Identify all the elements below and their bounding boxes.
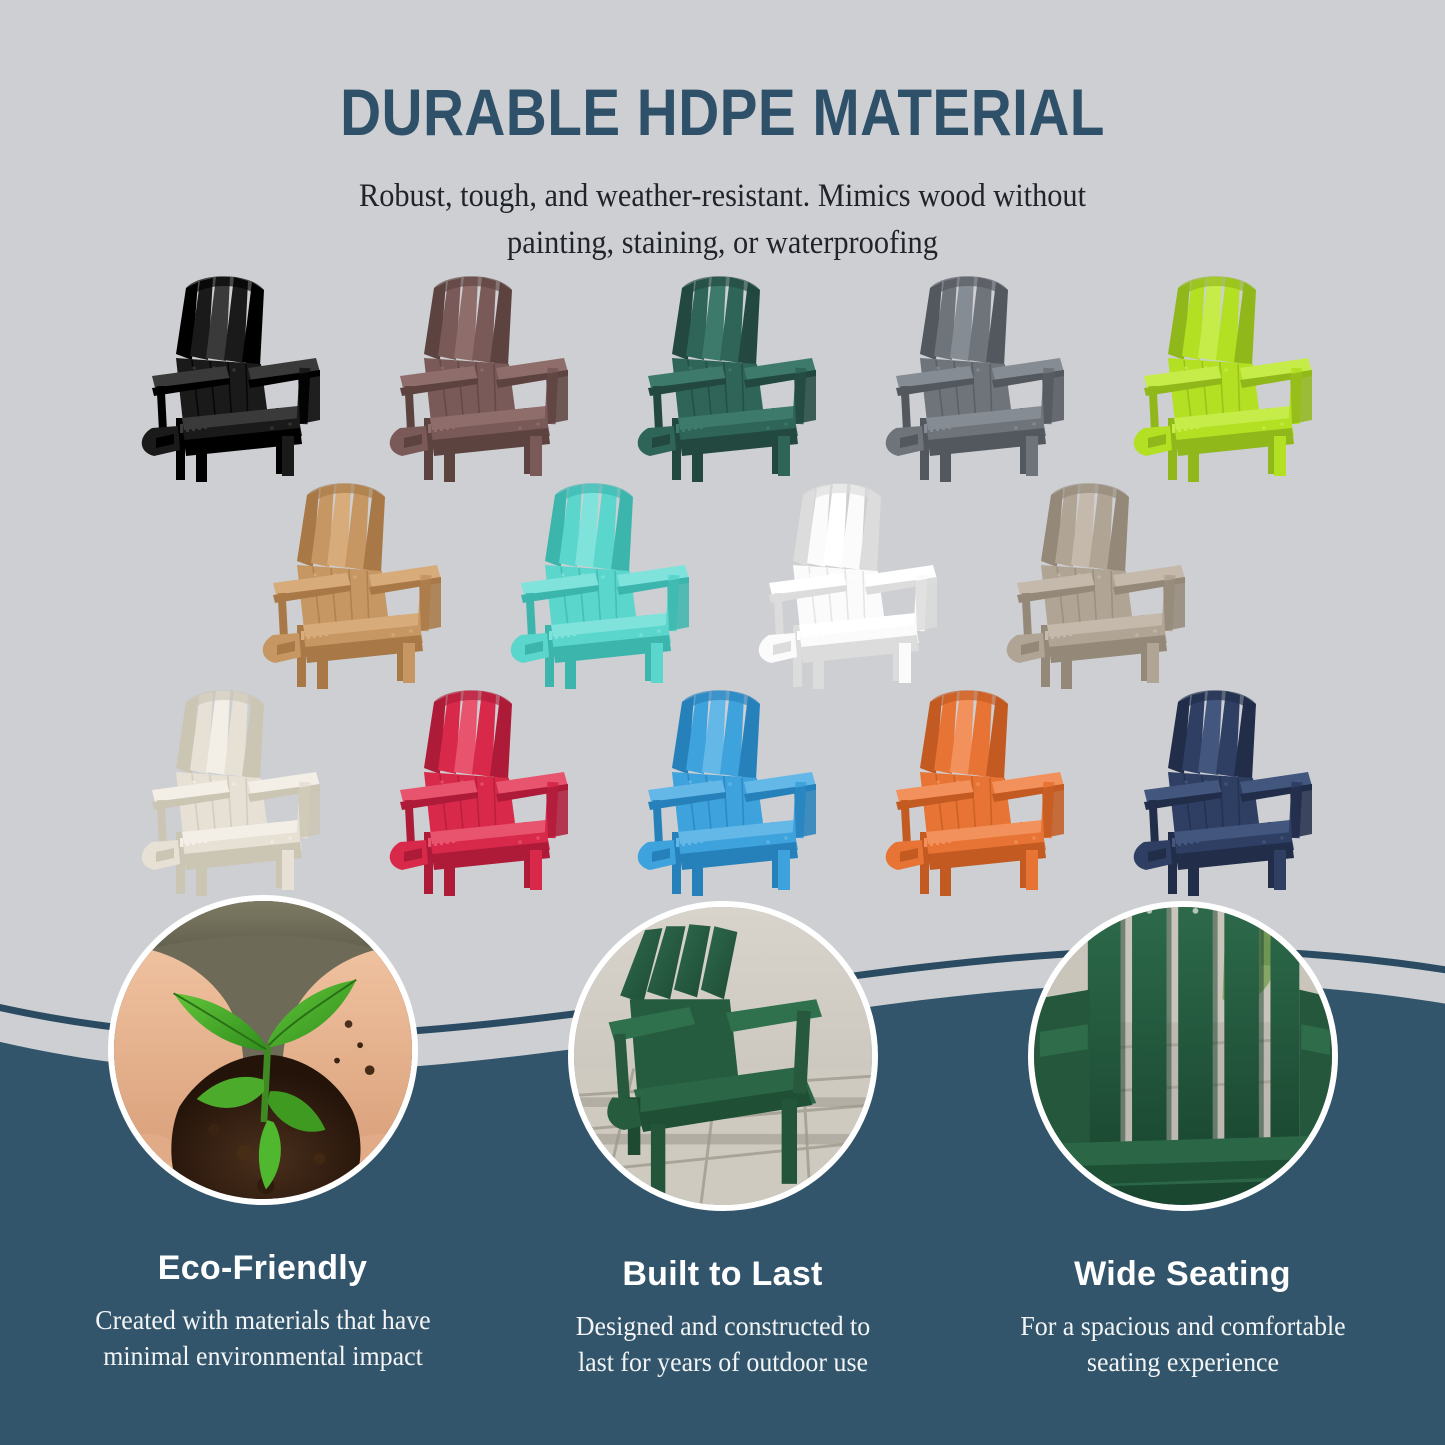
feature-desc-line-2: last for years of outdoor use	[531, 1344, 915, 1380]
feature-desc-line-1: Created with materials that have	[71, 1302, 455, 1338]
page-title: DURABLE HDPE MATERIAL	[101, 78, 1344, 147]
infographic-page: DURABLE HDPE MATERIAL Robust, tough, and…	[0, 0, 1445, 1445]
feature-desc-eco-friendly: Created with materials that have minimal…	[71, 1302, 455, 1375]
chair-row-2	[0, 475, 1445, 690]
header: DURABLE HDPE MATERIAL Robust, tough, and…	[0, 0, 1445, 267]
chair-swatch-black[interactable]	[130, 268, 330, 483]
chair-image	[378, 268, 578, 483]
page-subtitle: Robust, tough, and weather-resistant. Mi…	[58, 173, 1387, 267]
chair-swatch-weathered-wood[interactable]	[995, 475, 1195, 690]
chair-swatch-turquoise[interactable]	[499, 475, 699, 690]
features-section: Eco-Friendly Created with materials that…	[0, 895, 1445, 1381]
feature-wide-seating: Wide Seating For a spacious and comforta…	[983, 895, 1383, 1381]
feature-desc-line-1: For a spacious and comfortable	[991, 1308, 1375, 1344]
chair-swatch-dark-green[interactable]	[626, 268, 826, 483]
chair-image	[874, 682, 1074, 897]
feature-desc-line-2: minimal environmental impact	[71, 1338, 455, 1374]
feature-image-wide-seating	[1028, 901, 1338, 1211]
feature-title-eco-friendly: Eco-Friendly	[63, 1249, 463, 1288]
chair-swatch-gray[interactable]	[874, 268, 1074, 483]
chair-swatch-ivory[interactable]	[130, 682, 330, 897]
chair-image	[626, 268, 826, 483]
chair-swatch-navy-blue[interactable]	[1122, 682, 1322, 897]
chair-row-1	[6, 268, 1445, 483]
chair-row-3	[6, 682, 1445, 897]
feature-image-eco-friendly	[108, 895, 418, 1205]
chair-image	[378, 682, 578, 897]
chair-image	[874, 268, 1074, 483]
feature-title-built-to-last: Built to Last	[523, 1255, 923, 1294]
chair-image	[130, 268, 330, 483]
feature-image-built-to-last	[568, 901, 878, 1211]
chair-image	[499, 475, 699, 690]
chair-image	[626, 682, 826, 897]
chair-swatch-lime-green[interactable]	[1122, 268, 1322, 483]
chair-image	[995, 475, 1195, 690]
chair-image	[747, 475, 947, 690]
chair-image	[1122, 682, 1322, 897]
feature-desc-line-1: Designed and constructed to	[531, 1308, 915, 1344]
chair-swatch-blue[interactable]	[626, 682, 826, 897]
chair-swatch-teak[interactable]	[251, 475, 451, 690]
chair-swatch-brown[interactable]	[378, 268, 578, 483]
subtitle-line-2: painting, staining, or waterproofing	[58, 220, 1387, 267]
feature-desc-line-2: seating experience	[991, 1344, 1375, 1380]
chair-color-grid	[0, 268, 1445, 897]
chair-image	[1122, 268, 1322, 483]
chair-swatch-white[interactable]	[747, 475, 947, 690]
chair-swatch-red[interactable]	[378, 682, 578, 897]
chair-swatch-orange[interactable]	[874, 682, 1074, 897]
subtitle-line-1: Robust, tough, and weather-resistant. Mi…	[58, 173, 1387, 220]
feature-eco-friendly: Eco-Friendly Created with materials that…	[63, 895, 463, 1381]
feature-desc-wide-seating: For a spacious and comfortable seating e…	[991, 1308, 1375, 1381]
chair-image	[130, 682, 330, 897]
feature-desc-built-to-last: Designed and constructed to last for yea…	[531, 1308, 915, 1381]
chair-image	[251, 475, 451, 690]
feature-built-to-last: Built to Last Designed and constructed t…	[523, 895, 923, 1381]
feature-title-wide-seating: Wide Seating	[983, 1255, 1383, 1294]
